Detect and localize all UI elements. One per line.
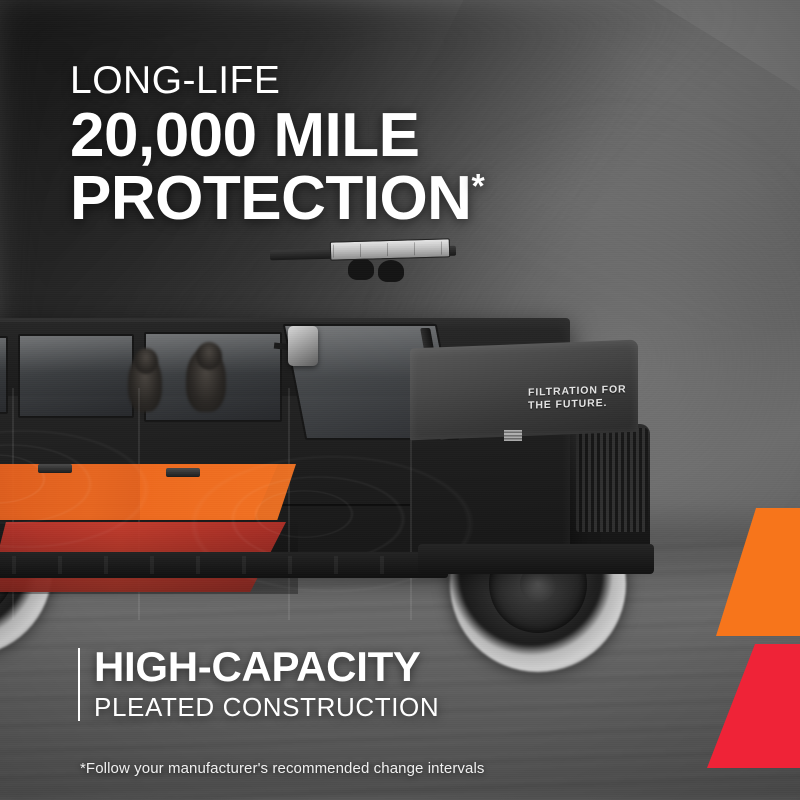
headline-asterisk: * (471, 167, 484, 205)
headline-block: LONG-LIFE 20,000 MILE PROTECTION* (70, 58, 484, 230)
subhead-block: HIGH-CAPACITY PLEATED CONSTRUCTION (70, 645, 439, 723)
subhead-line-2: PLEATED CONSTRUCTION (94, 691, 439, 723)
advertisement-banner: 1969 K& N. FILTRATION FOR THE FUTURE. (0, 0, 800, 800)
headline-line-2: PROTECTION* (70, 167, 484, 230)
subhead-vertical-rule (78, 648, 80, 721)
headline-kicker: LONG-LIFE (70, 58, 484, 104)
headline-line-1: 20,000 MILE (70, 104, 484, 167)
subhead-line-1: HIGH-CAPACITY (94, 645, 439, 689)
footnote-text: *Follow your manufacturer's recommended … (80, 760, 484, 777)
headline-line-2-text: PROTECTION (70, 164, 471, 233)
